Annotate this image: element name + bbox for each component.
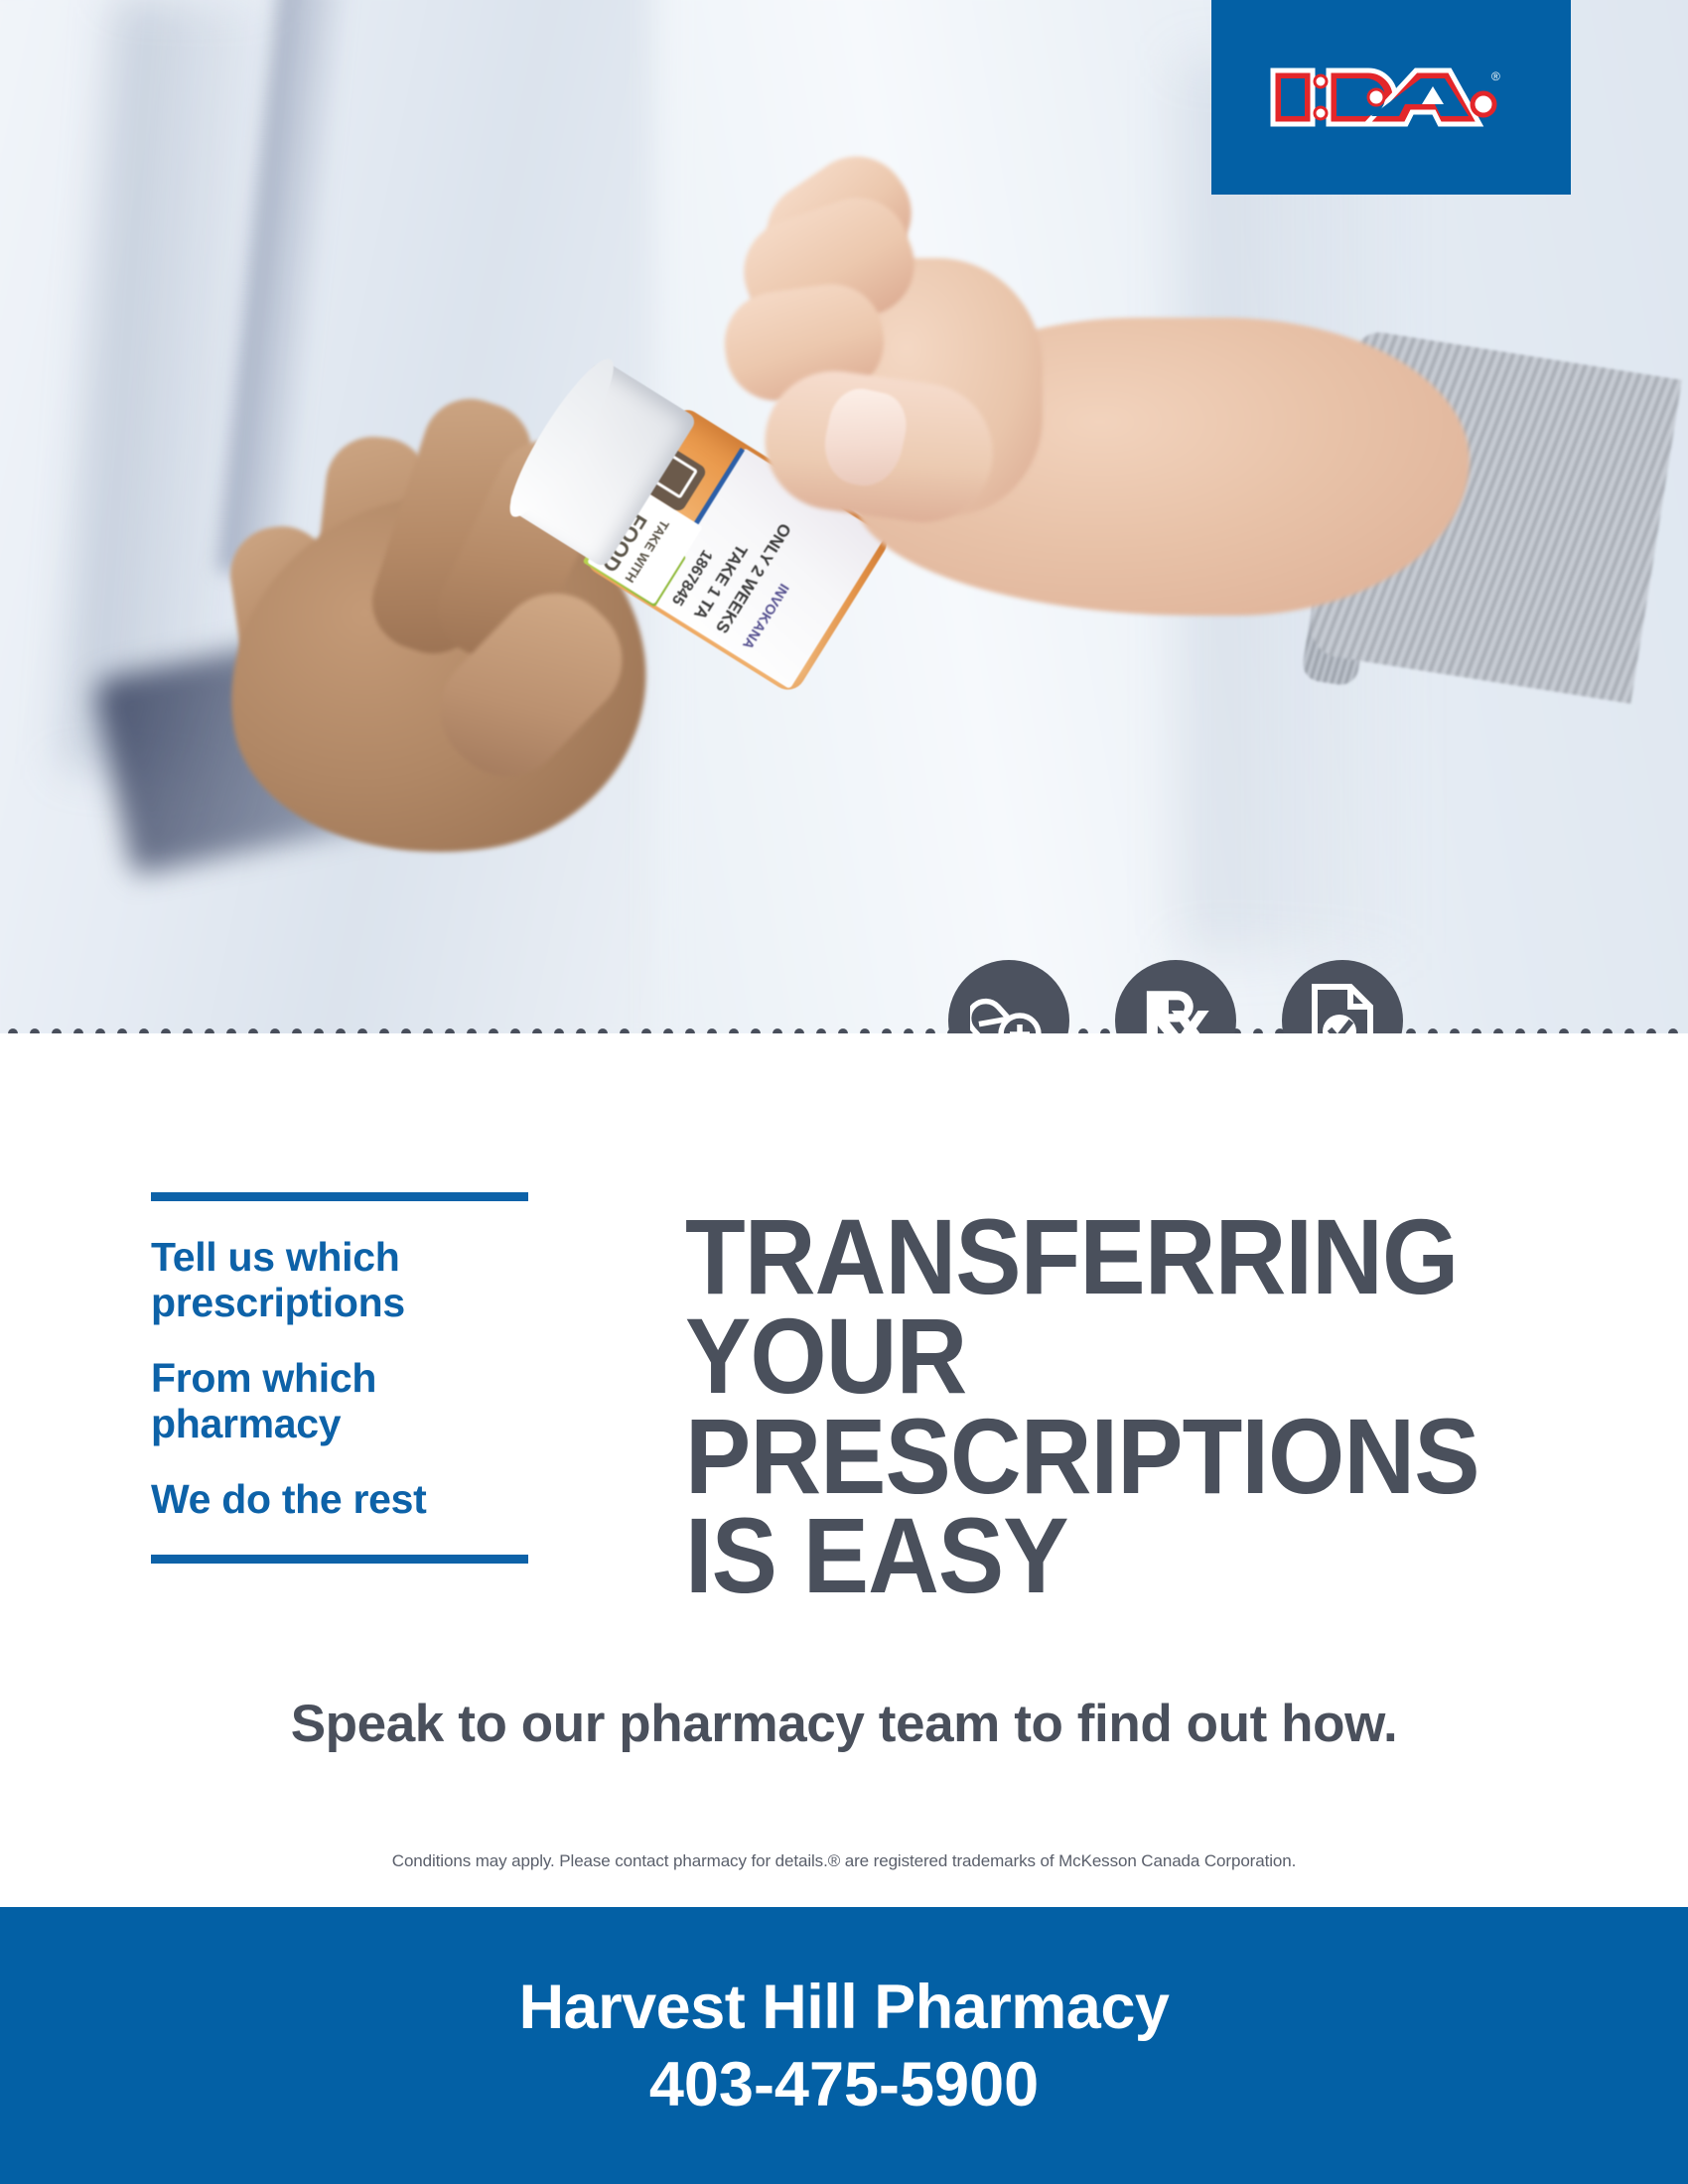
page-title: TRANSFERRING YOUR PRESCRIPTIONS IS EASY (685, 1207, 1507, 1606)
list-item: We do the rest (151, 1477, 528, 1523)
content-area: Tell us which prescriptions From which p… (0, 1033, 1688, 1907)
list-item: From which pharmacy (151, 1356, 528, 1447)
bullet-rule-bottom (151, 1555, 528, 1564)
pharmacy-phone[interactable]: 403-475-5900 (649, 2049, 1039, 2120)
pharmacy-name: Harvest Hill Pharmacy (519, 1972, 1170, 2043)
legal-fineprint: Conditions may apply. Please contact pha… (0, 1851, 1688, 1871)
footer-band: Harvest Hill Pharmacy 403-475-5900 (0, 1907, 1688, 2184)
list-item: Tell us which prescriptions (151, 1235, 528, 1326)
headline-line-2: YOUR (685, 1306, 1507, 1406)
bullet-list: Tell us which prescriptions From which p… (151, 1192, 528, 1564)
bullet-items: Tell us which prescriptions From which p… (151, 1235, 528, 1523)
headline-line-3: PRESCRIPTIONS (685, 1407, 1507, 1506)
ida-logo-mark: ® (1267, 55, 1515, 140)
poster: FOOD TAKE WITH 1867845 TAKE 1 TA ONLY 2 … (0, 0, 1688, 2184)
registered-mark: ® (1491, 69, 1500, 83)
headline-line-4: IS EASY (685, 1506, 1507, 1605)
subheading: Speak to our pharmacy team to find out h… (0, 1694, 1688, 1754)
headline-line-1: TRANSFERRING (685, 1207, 1507, 1306)
customer-hand (735, 149, 1628, 705)
bullet-rule-top (151, 1192, 528, 1201)
ida-logo: ® (1211, 0, 1571, 195)
